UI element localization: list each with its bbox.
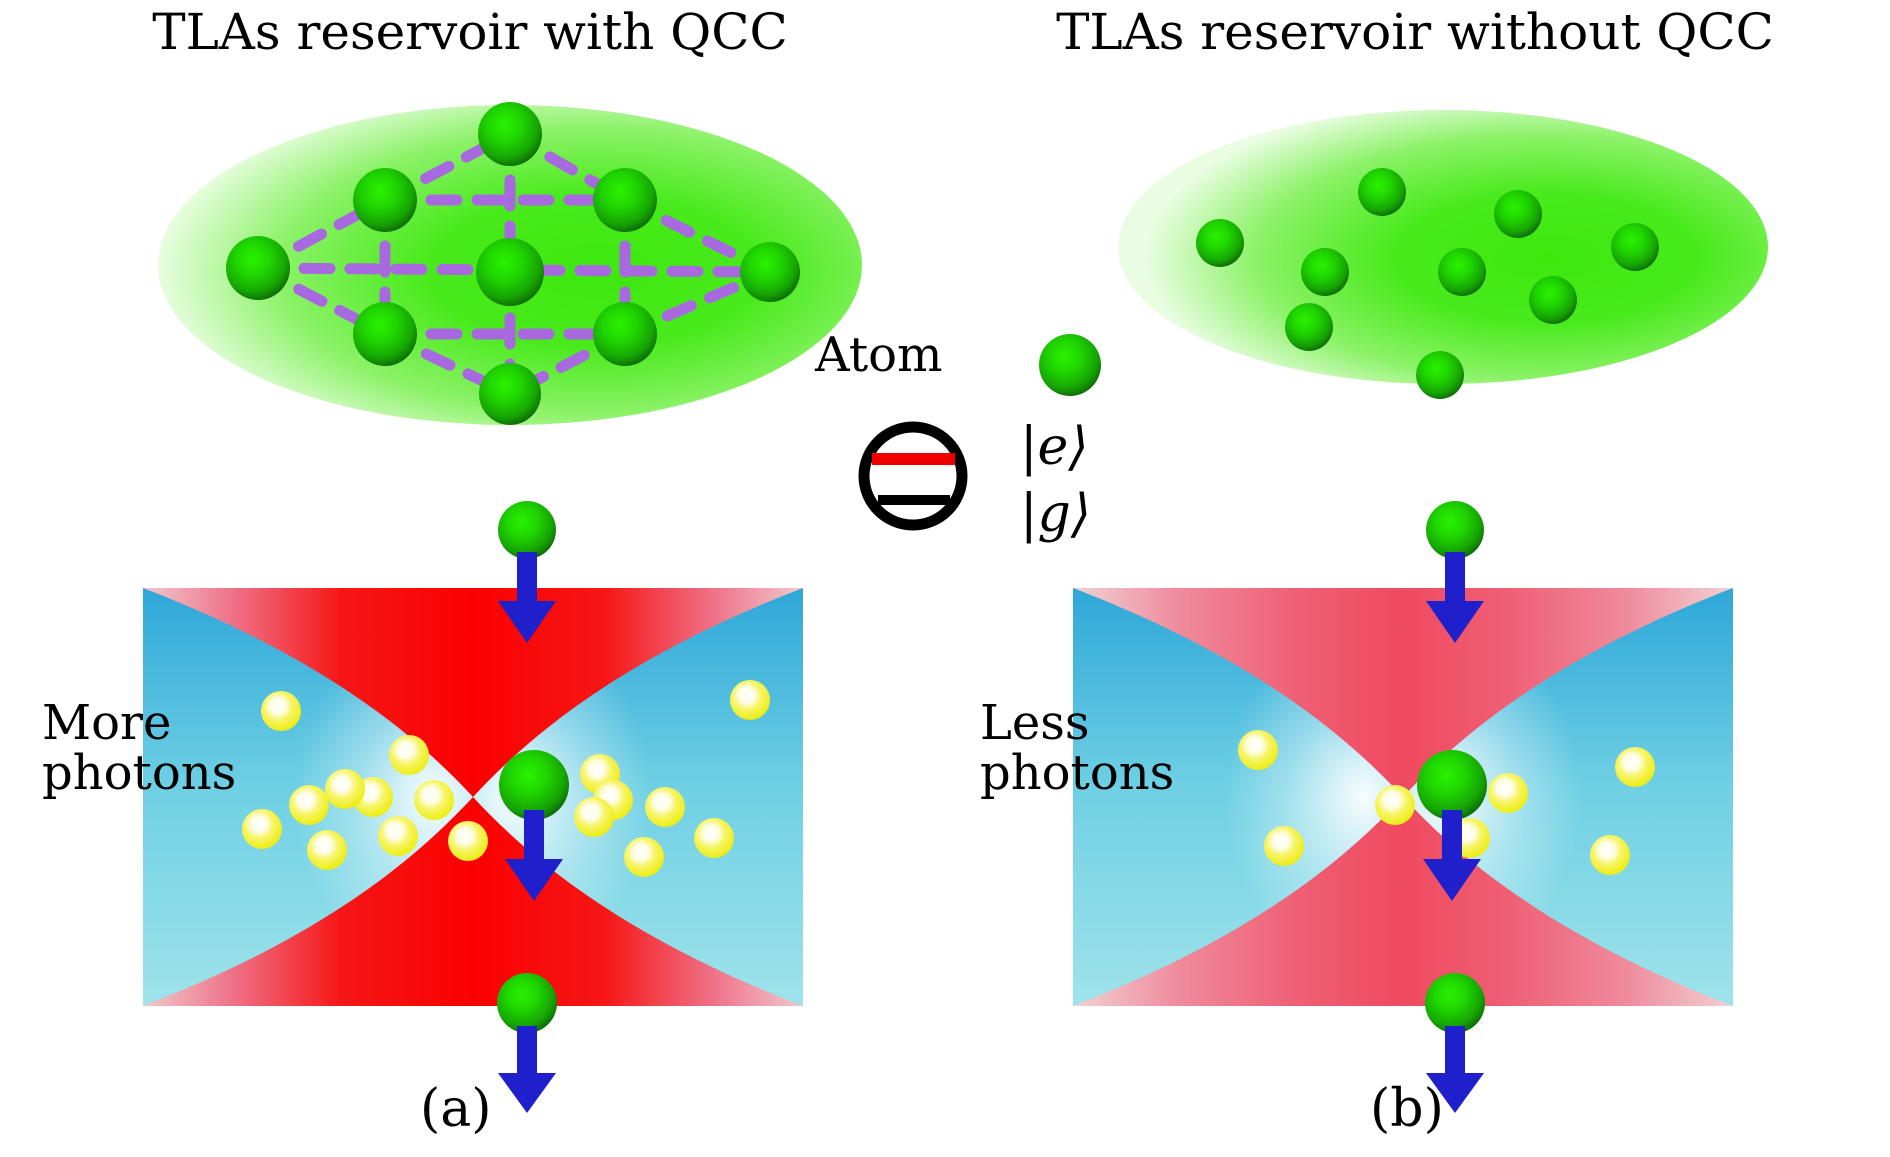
tla-node bbox=[593, 302, 657, 366]
tla-node bbox=[1611, 223, 1659, 271]
atom-legend-label: Atom bbox=[815, 330, 943, 380]
tla-node bbox=[1358, 168, 1406, 216]
panel-a-cavity bbox=[143, 588, 803, 1006]
photon bbox=[1264, 826, 1304, 866]
photon bbox=[624, 837, 664, 877]
title-right: TLAs reservoir without QCC bbox=[940, 6, 1890, 59]
photon bbox=[1488, 773, 1528, 813]
panel-a-caption: (a) bbox=[420, 1082, 492, 1137]
photon bbox=[242, 809, 282, 849]
tla-node bbox=[353, 302, 417, 366]
photon bbox=[1590, 835, 1630, 875]
reservoir-without-qcc bbox=[1118, 110, 1768, 399]
photon bbox=[645, 787, 685, 827]
photon bbox=[1238, 730, 1278, 770]
title-left: TLAs reservoir with QCC bbox=[0, 6, 940, 59]
photon bbox=[1375, 785, 1415, 825]
photon bbox=[307, 830, 347, 870]
physics-schematic-figure bbox=[0, 0, 1890, 1157]
atom-above-cavity-a bbox=[498, 501, 556, 559]
legend-atom-sphere bbox=[1039, 334, 1101, 396]
tla-node bbox=[1301, 248, 1349, 296]
atom-in-cavity-b bbox=[1417, 750, 1487, 820]
tla-node bbox=[1494, 190, 1542, 238]
photon bbox=[389, 735, 429, 775]
tla-node bbox=[1416, 351, 1464, 399]
tla-node bbox=[1438, 248, 1486, 296]
photon bbox=[730, 680, 770, 720]
atom-below-cavity-a bbox=[497, 973, 557, 1033]
arrow-out-of-cavity-a bbox=[498, 1026, 556, 1113]
photon bbox=[414, 780, 454, 820]
tla-node bbox=[479, 363, 541, 425]
excited-state-label: |e⟩ bbox=[1020, 420, 1089, 475]
tla-node bbox=[740, 242, 800, 302]
atom-in-cavity-a bbox=[499, 750, 569, 820]
photon bbox=[694, 818, 734, 858]
photon bbox=[574, 797, 614, 837]
photon bbox=[325, 769, 365, 809]
two-level-atom-circle bbox=[864, 427, 962, 525]
atom-above-cavity-b bbox=[1426, 501, 1484, 559]
less-photons-label: Less photons bbox=[980, 698, 1174, 799]
tla-node bbox=[593, 168, 657, 232]
tla-node bbox=[1529, 276, 1577, 324]
more-photons-label: More photons bbox=[42, 698, 236, 799]
tla-node bbox=[1196, 219, 1244, 267]
photon bbox=[448, 821, 488, 861]
tla-node bbox=[226, 236, 290, 300]
ground-state-label: |g⟩ bbox=[1020, 487, 1091, 542]
reservoir-with-qcc bbox=[158, 102, 862, 425]
photon bbox=[1615, 747, 1655, 787]
tla-node bbox=[476, 238, 544, 306]
tla-node bbox=[1285, 303, 1333, 351]
photon bbox=[261, 691, 301, 731]
photon bbox=[378, 816, 418, 856]
photon bbox=[289, 785, 329, 825]
panel-b-caption: (b) bbox=[1370, 1082, 1444, 1137]
tla-node bbox=[478, 102, 542, 166]
atom-below-cavity-b bbox=[1425, 973, 1485, 1033]
tla-node bbox=[353, 168, 417, 232]
